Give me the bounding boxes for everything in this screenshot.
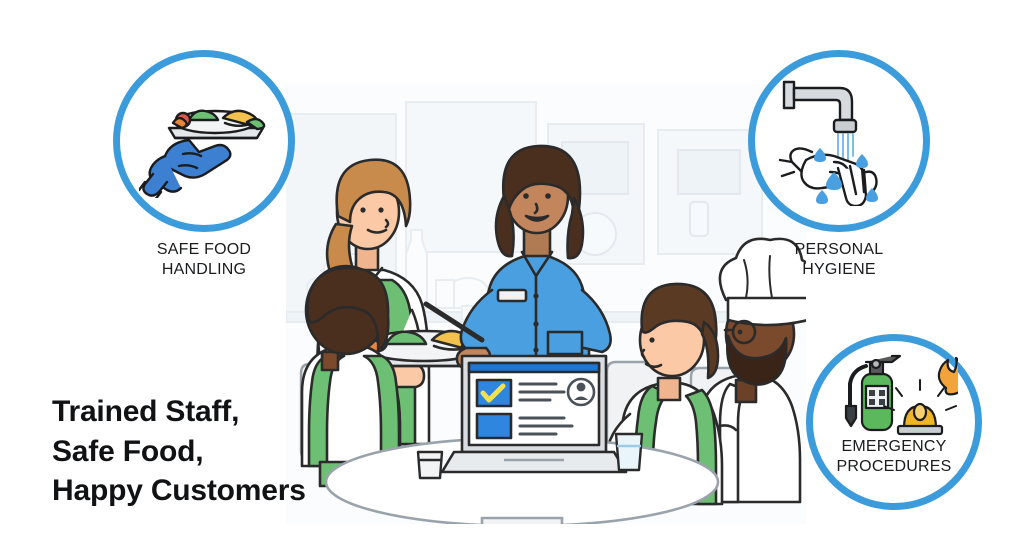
headline-line-2: Safe Food, — [52, 432, 382, 472]
handwashing-faucet-icon — [776, 76, 904, 206]
infographic-canvas: Trained Staff, Safe Food, Happy Customer… — [0, 0, 1024, 559]
gloved-hands-food-tray-icon — [139, 86, 269, 198]
badge-label: PERSONAL HYGIENE — [738, 240, 940, 281]
badge-label: SAFE FOOD HANDLING — [99, 240, 309, 281]
laptop-training-screen — [442, 356, 626, 472]
coffee-cup — [418, 452, 442, 478]
badge-emergency-procedures[interactable]: EMERGENCY PROCEDURES — [806, 334, 982, 510]
headline-line-3: Happy Customers — [52, 471, 382, 511]
badge-label-line-1: SAFE FOOD — [99, 240, 309, 260]
badge-label-line-1: PERSONAL — [738, 240, 940, 260]
badge-label-line-2: HANDLING — [99, 260, 309, 280]
headline: Trained Staff, Safe Food, Happy Customer… — [52, 392, 382, 511]
badge-label-line-2: HYGIENE — [738, 260, 940, 280]
badge-safe-food-handling[interactable]: SAFE FOOD HANDLING — [113, 50, 295, 300]
water-glass — [616, 434, 642, 470]
headline-line-1: Trained Staff, — [52, 392, 382, 432]
badge-label-line-1: EMERGENCY — [798, 437, 990, 457]
fire-extinguisher-alarm-icon — [832, 352, 958, 436]
badge-personal-hygiene[interactable]: PERSONAL HYGIENE — [748, 50, 930, 300]
badge-label: EMERGENCY PROCEDURES — [798, 437, 990, 478]
badge-label-line-2: PROCEDURES — [798, 457, 990, 477]
